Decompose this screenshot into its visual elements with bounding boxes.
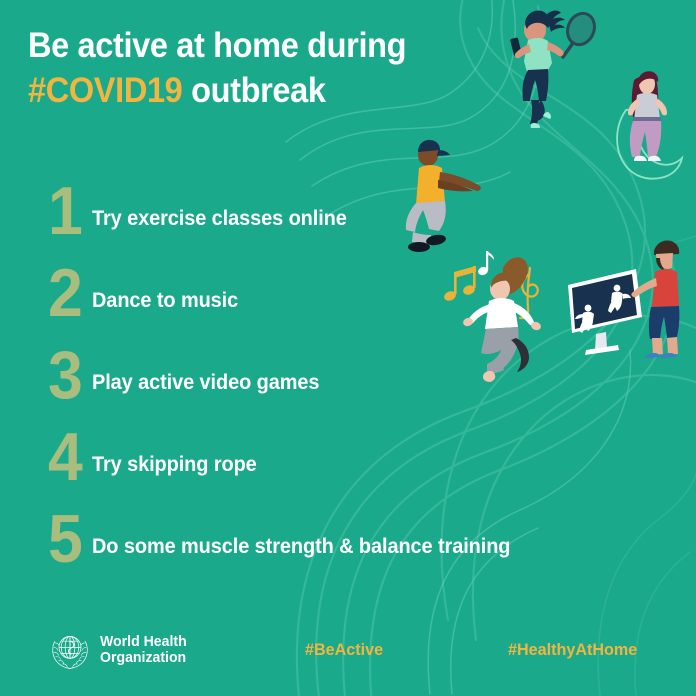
tip-label: Dance to music xyxy=(92,290,238,334)
tip-label: Try exercise classes online xyxy=(92,208,347,252)
who-organization-name: World Health Organization xyxy=(100,634,187,666)
hashtag-healthyathome: #HealthyAtHome xyxy=(508,640,637,660)
tip-label: Play active video games xyxy=(92,372,319,416)
hashtag-beactive: #BeActive xyxy=(305,640,383,660)
who-be-active-poster: Be active at home during #COVID19 outbre… xyxy=(0,0,696,696)
headline-line-2: #COVID19 outbreak xyxy=(28,69,474,114)
footer: World Health Organization #BeActive #Hea… xyxy=(0,610,696,696)
tips-list: 1 Try exercise classes online 2 Dance to… xyxy=(48,170,668,580)
who-name-line-2: Organization xyxy=(100,650,187,666)
tennis-player-illustration xyxy=(510,9,599,128)
headline-line-1: Be active at home during xyxy=(28,24,474,69)
covid19-hashtag: #COVID19 xyxy=(28,71,182,110)
tip-label: Do some muscle strength & balance traini… xyxy=(92,536,510,580)
list-item: 5 Do some muscle strength & balance trai… xyxy=(48,498,668,580)
who-logo-lockup: World Health Organization xyxy=(48,628,192,672)
tip-number: 1 xyxy=(48,177,87,245)
tip-label: Try skipping rope xyxy=(92,454,257,498)
list-item: 4 Try skipping rope xyxy=(48,416,668,498)
list-item: 1 Try exercise classes online xyxy=(48,170,668,252)
who-emblem-icon xyxy=(48,628,92,672)
tip-number: 5 xyxy=(48,505,87,573)
headline-outbreak-word: outbreak xyxy=(182,71,325,110)
list-item: 2 Dance to music xyxy=(48,252,668,334)
list-item: 3 Play active video games xyxy=(48,334,668,416)
tip-number: 4 xyxy=(48,423,87,491)
skipping-rope-woman-illustration xyxy=(617,71,682,178)
page-title: Be active at home during #COVID19 outbre… xyxy=(28,24,474,114)
tip-number: 2 xyxy=(48,259,87,327)
tip-number: 3 xyxy=(48,341,87,409)
who-name-line-1: World Health xyxy=(100,634,187,650)
